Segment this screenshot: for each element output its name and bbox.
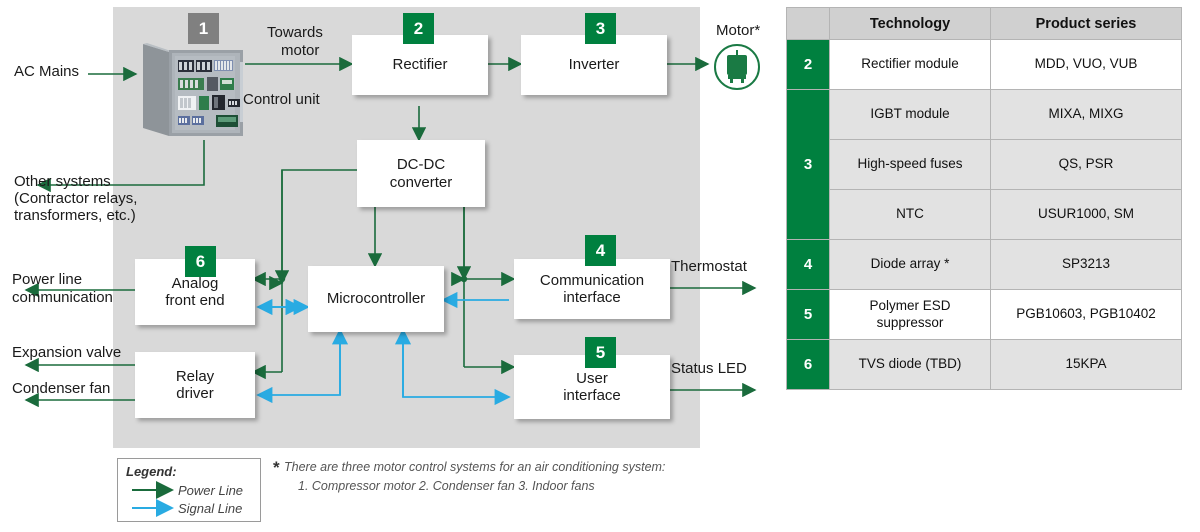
badge-5: 5 (585, 337, 616, 368)
table-cell-number: 5 (787, 290, 830, 340)
table-cell-product: PGB10603, PGB10402 (991, 290, 1182, 340)
block-communication-interface[interactable]: Communication interface (514, 259, 670, 319)
table-header-blank (787, 8, 830, 40)
block-microcontroller-label: Microcontroller (327, 290, 425, 307)
table-header-technology: Technology (830, 8, 991, 40)
table-cell-technology: NTC (830, 190, 991, 240)
table-row: High-speed fuses QS, PSR (787, 140, 1182, 190)
legend-signal-line-label: Signal Line (178, 501, 242, 516)
label-other-systems-line3: transformers, etc.) (14, 207, 136, 225)
table-row: 3 IGBT module MIXA, MIXG (787, 90, 1182, 140)
footnote-marker: * (273, 455, 280, 481)
table-row: 5 Polymer ESD suppressor PGB10603, PGB10… (787, 290, 1182, 340)
table-cell-technology: TVS diode (TBD) (830, 340, 991, 390)
label-thermostat: Thermostat (671, 258, 747, 276)
block-inverter-label: Inverter (569, 56, 620, 73)
badge-3: 3 (585, 13, 616, 44)
block-rectifier-label: Rectifier (392, 56, 447, 73)
table-cell-technology: Polymer ESD suppressor (830, 290, 991, 340)
control-unit-image (141, 32, 253, 139)
table-cell-technology: High-speed fuses (830, 140, 991, 190)
table-row: 6 TVS diode (TBD) 15KPA (787, 340, 1182, 390)
legend-power-line-label: Power Line (178, 483, 243, 498)
block-comm-label-line2: interface (540, 289, 644, 306)
motor-icon (713, 43, 761, 96)
table-cell-product: USUR1000, SM (991, 190, 1182, 240)
block-dcdc-label-line2: converter (390, 174, 453, 191)
footnote: * There are three motor control systems … (284, 458, 714, 496)
table-cell-product: 15KPA (991, 340, 1182, 390)
block-ui-label-line1: User (563, 370, 621, 387)
table-cell-technology: Rectifier module (830, 40, 991, 90)
block-diagram: 1 2 3 4 5 6 Rectifier Inverter DC-DC con… (0, 0, 780, 532)
label-power-line-comm-line2: communication (12, 289, 113, 307)
block-ui-label-line2: interface (563, 387, 621, 404)
label-control-unit: Control unit (243, 91, 320, 109)
label-status-led: Status LED (671, 360, 747, 378)
legend: Legend: Power Line Signal Line (117, 458, 261, 522)
block-relay-label-line1: Relay (176, 368, 214, 385)
block-rectifier[interactable]: Rectifier (352, 35, 488, 95)
label-other-systems-line2: (Contractor relays, (14, 190, 137, 208)
badge-2: 2 (403, 13, 434, 44)
block-relay-label-line2: driver (176, 385, 214, 402)
label-ac-mains: AC Mains (14, 63, 79, 81)
label-power-line-comm-line1: Power line (12, 271, 82, 289)
badge-6: 6 (185, 246, 216, 277)
table-header-row: Technology Product series (787, 8, 1182, 40)
label-other-systems-line1: Other systems (14, 173, 111, 191)
table-header-product-series: Product series (991, 8, 1182, 40)
block-comm-label-line1: Communication (540, 272, 644, 289)
block-afe-label-line2: front end (165, 292, 224, 309)
block-dc-dc-converter[interactable]: DC-DC converter (357, 140, 485, 207)
table-row: NTC USUR1000, SM (787, 190, 1182, 240)
label-towards-motor-line2: motor (281, 42, 319, 60)
table-cell-technology: IGBT module (830, 90, 991, 140)
table-cell-product: MDD, VUO, VUB (991, 40, 1182, 90)
block-relay-driver[interactable]: Relay driver (135, 352, 255, 418)
label-expansion-valve: Expansion valve (12, 344, 121, 362)
table-row: 2 Rectifier module MDD, VUO, VUB (787, 40, 1182, 90)
table-cell-technology: Diode array * (830, 240, 991, 290)
block-inverter[interactable]: Inverter (521, 35, 667, 95)
badge-4: 4 (585, 235, 616, 266)
footnote-line1: There are three motor control systems fo… (284, 458, 714, 477)
table-cell-number: 4 (787, 240, 830, 290)
block-afe-label-line1: Analog (165, 275, 224, 292)
label-towards-motor-line1: Towards (267, 24, 323, 42)
badge-1: 1 (188, 13, 219, 44)
block-microcontroller[interactable]: Microcontroller (308, 266, 444, 332)
table-cell-number: 6 (787, 340, 830, 390)
technology-product-table: Technology Product series 2 Rectifier mo… (786, 7, 1182, 390)
table-cell-product: SP3213 (991, 240, 1182, 290)
footnote-line2: 1. Compressor motor 2. Condenser fan 3. … (284, 477, 714, 496)
block-dcdc-label-line1: DC-DC (390, 156, 453, 173)
table-row: 4 Diode array * SP3213 (787, 240, 1182, 290)
table-cell-number: 3 (787, 90, 830, 240)
table-cell-number: 2 (787, 40, 830, 90)
table-cell-product: MIXA, MIXG (991, 90, 1182, 140)
label-motor: Motor* (716, 22, 760, 40)
label-condenser-fan: Condenser fan (12, 380, 110, 398)
table-cell-product: QS, PSR (991, 140, 1182, 190)
